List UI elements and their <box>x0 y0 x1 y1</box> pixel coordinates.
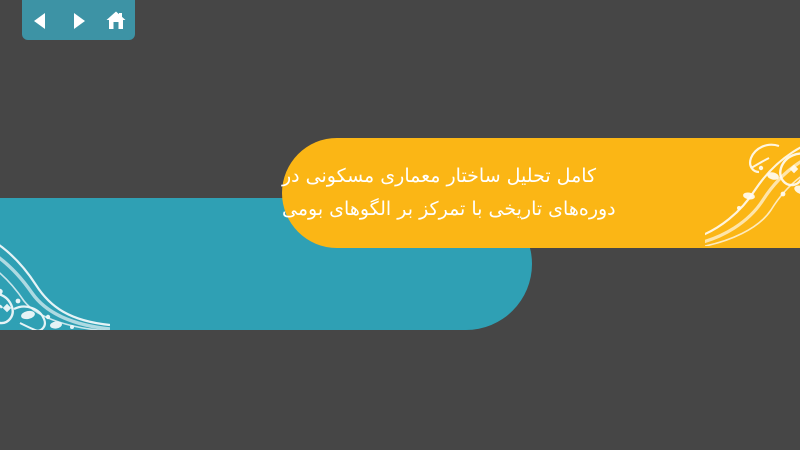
back-button[interactable] <box>28 8 54 34</box>
forward-button[interactable] <box>65 8 91 34</box>
home-button[interactable] <box>103 8 129 34</box>
previous-arrow-icon <box>31 11 51 31</box>
navigation-bar <box>22 0 135 40</box>
arabesque-corner-ornament <box>0 205 110 330</box>
arabesque-corner-ornament <box>705 138 800 246</box>
slide-canvas: کامل تحلیل ساختار معماری مسکونی در دوره‌… <box>0 0 800 450</box>
home-icon <box>105 10 127 32</box>
orange-banner <box>282 138 800 248</box>
next-arrow-icon <box>68 11 88 31</box>
